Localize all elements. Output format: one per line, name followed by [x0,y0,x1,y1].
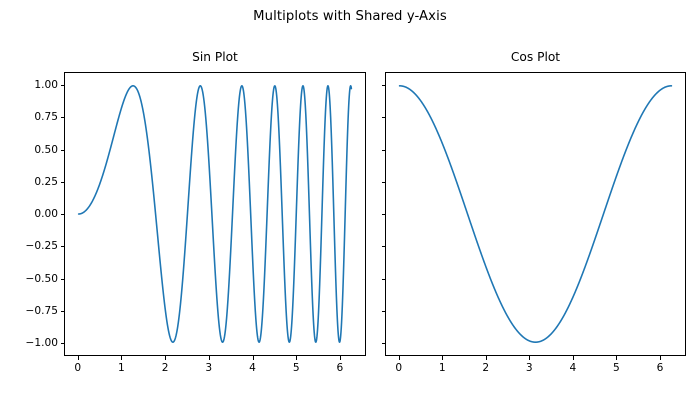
xtick-label: 3 [509,362,549,374]
subplot-cos-plot: Cos Plot [385,72,686,356]
xtick-label: 5 [276,362,316,374]
ytick-label: −0.25 [2,240,58,252]
ytick-label: 0.25 [2,176,58,188]
subplot-title-sin: Sin Plot [65,50,365,64]
xtick-label: 2 [145,362,185,374]
xtick-label: 0 [379,362,419,374]
sin-plot-canvas [65,73,365,355]
subplot-sin-plot: Sin Plot [64,72,366,356]
xtick-label: 0 [58,362,98,374]
ytick-label: 0.75 [2,111,58,123]
xtick-label: 1 [422,362,462,374]
subplot-title-cos: Cos Plot [386,50,685,64]
ytick-label: 0.00 [2,208,58,220]
xtick-label: 1 [101,362,141,374]
xtick-label: 3 [189,362,229,374]
xtick-mark [399,356,400,360]
xtick-label: 6 [320,362,360,374]
xtick-mark [340,356,341,360]
figure-suptitle: Multiplots with Shared y-Axis [0,9,700,24]
xtick-mark [121,356,122,360]
xtick-mark [660,356,661,360]
cos-curve [400,86,672,342]
xtick-mark [442,356,443,360]
ytick-label: −0.50 [2,273,58,285]
xtick-label: 4 [553,362,593,374]
xtick-mark [296,356,297,360]
xtick-mark [253,356,254,360]
xtick-mark [165,356,166,360]
ytick-label: 0.50 [2,144,58,156]
ytick-label: −1.00 [2,337,58,349]
xtick-mark [529,356,530,360]
xtick-label: 6 [640,362,680,374]
xtick-mark [486,356,487,360]
xtick-label: 5 [596,362,636,374]
xtick-label: 4 [233,362,273,374]
xtick-label: 2 [466,362,506,374]
ytick-label: 1.00 [2,79,58,91]
xtick-mark [78,356,79,360]
sin-curve [79,86,352,342]
xtick-mark [209,356,210,360]
xtick-mark [616,356,617,360]
matplotlib-figure: Multiplots with Shared y-Axis Sin Plot C… [0,0,700,400]
xtick-mark [573,356,574,360]
ytick-label: −0.75 [2,305,58,317]
cos-plot-canvas [386,73,685,355]
